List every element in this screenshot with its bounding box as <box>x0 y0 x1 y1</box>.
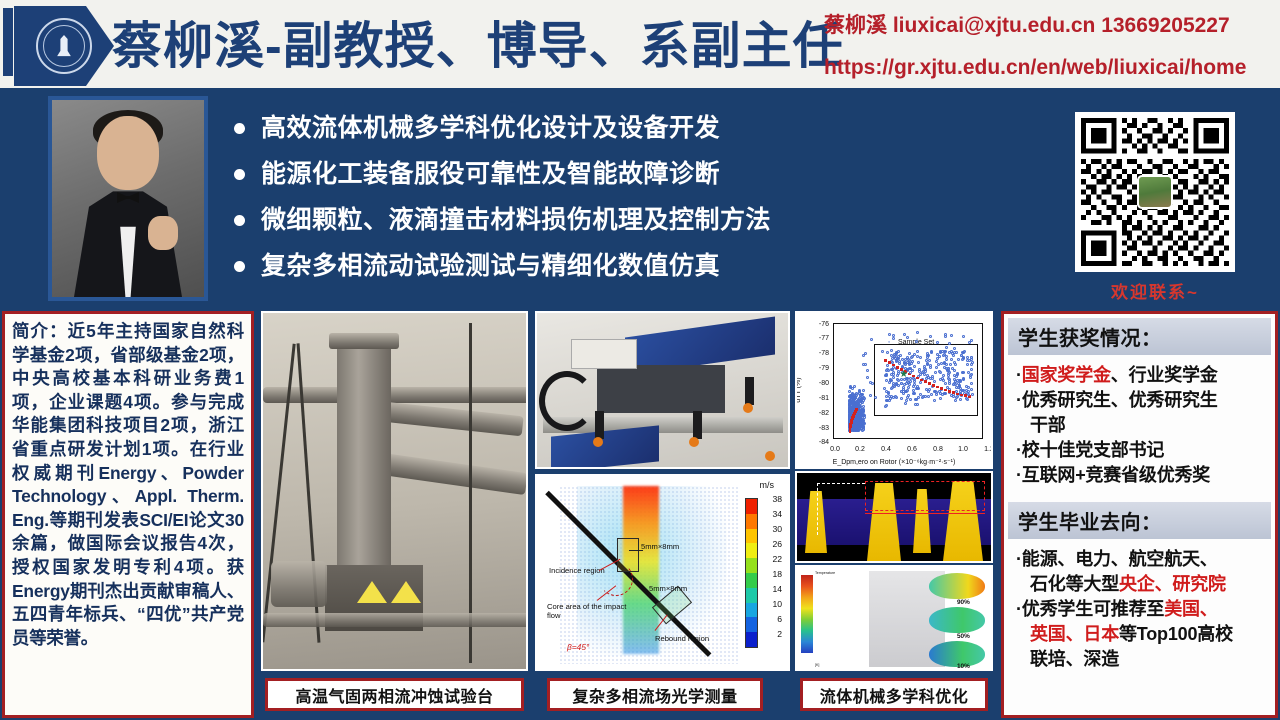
scatter-point <box>948 382 951 385</box>
scatter-point <box>971 393 974 396</box>
pareto-point <box>849 430 852 433</box>
placement-heading: 学生毕业去向： <box>1008 502 1271 539</box>
scatter-point <box>953 347 956 350</box>
logo-accent-bar <box>3 8 13 76</box>
y-tick: -83 <box>803 425 829 432</box>
scatter-point <box>970 382 973 385</box>
list-item: 联培、深造 <box>1016 647 1265 672</box>
piv-canvas: 5mm×8mm 5mm×8mm Incidence region Core ar… <box>537 476 788 669</box>
scatter-point <box>957 358 960 361</box>
piv-size-label-1: 5mm×8mm <box>641 542 679 551</box>
figure-blade-temperature: Temperature [K] 90% 50% 10% <box>795 565 993 671</box>
scatter-point <box>862 389 865 392</box>
lab-post <box>693 411 702 439</box>
list-item: 能源化工装备服役可靠性及智能故障诊断 <box>234 158 834 190</box>
list-item: 复杂多相流动试验测试与精细化数值仿真 <box>234 250 834 282</box>
awards-heading: 学生获奖情况： <box>1008 318 1271 355</box>
homepage-url[interactable]: https://gr.xjtu.edu.cn/en/web/liuxicai/h… <box>824 56 1246 80</box>
blade-section-90 <box>929 573 985 599</box>
scatter-point <box>969 376 972 379</box>
x-tick: 1.0 <box>958 446 968 453</box>
scatter-point <box>910 356 913 359</box>
scatter-point <box>928 388 931 391</box>
awards-list: ·国家奖学金、行业奖学金 ·优秀研究生、优秀研究生 干部 ·校十佳党支部书记 ·… <box>1008 355 1271 492</box>
biography-text: 简介：近5年主持国家自然科学基金2项，省部级基金2项，中央高校基本科研业务费1项… <box>12 320 244 650</box>
scatter-point <box>869 381 872 384</box>
qr-center-avatar <box>1137 175 1173 209</box>
scatter-point <box>935 360 938 363</box>
qr-section: 欢迎联系~ <box>1055 112 1255 303</box>
research-bullet-2: 能源化工装备服役可靠性及智能故障诊断 <box>261 158 720 190</box>
scatter-point <box>970 388 973 391</box>
scatter-point <box>910 362 913 365</box>
scatter-point <box>930 393 933 396</box>
scatter-point <box>961 351 964 354</box>
placement-text: 能源、电力、航空航天、 <box>1022 549 1218 569</box>
list-item: ·互联网+竞赛省级优秀奖 <box>1016 463 1265 488</box>
lab-controller-unit <box>571 339 637 369</box>
x-tick: 0.0 <box>830 446 840 453</box>
research-bullet-1: 高效流体机械多学科优化设计及设备开发 <box>261 112 720 144</box>
qr-code-icon[interactable] <box>1075 112 1235 272</box>
scatter-point <box>892 371 895 374</box>
span-label-10: 10% <box>957 663 970 670</box>
award-text: 互联网+竞赛省级优秀奖 <box>1022 465 1210 485</box>
scatter-point <box>926 352 929 355</box>
scatter-point <box>864 363 867 366</box>
scatter-point <box>944 382 947 385</box>
scatter-point <box>886 399 889 402</box>
colorbar-tick: 2 <box>777 629 782 639</box>
panel-divider <box>1008 492 1271 502</box>
scatter-point <box>913 392 916 395</box>
placement-text: 等Top100高校 <box>1119 624 1233 644</box>
avatar-face <box>97 116 159 190</box>
pareto-point <box>916 377 919 380</box>
figure-blade-cascade <box>795 471 993 563</box>
poster-root: 蔡柳溪-副教授、博导、系副主任 蔡柳溪 liuxicai@xjtu.edu.cn… <box>0 0 1280 720</box>
lab-adjust-knob <box>743 403 753 413</box>
cascade-red-dashed-box <box>865 481 985 511</box>
biography-panel: 简介：近5年主持国家自然科学基金2项，省部级基金2项，中央高校基本科研业务费1项… <box>2 311 254 718</box>
scatter-point <box>904 402 907 405</box>
scatter-point <box>909 398 912 401</box>
lab-post <box>745 377 754 405</box>
scatter-point <box>874 396 877 399</box>
pareto-point <box>948 390 951 393</box>
award-highlight: 国家奖学金 <box>1022 365 1111 385</box>
lab-post <box>595 411 604 439</box>
span-label-90: 90% <box>957 599 970 606</box>
award-text: 优秀研究生、优秀研究生 <box>1022 390 1218 410</box>
scatter-point <box>858 427 861 430</box>
scatter-point <box>954 399 957 402</box>
scatter-point <box>861 429 864 432</box>
colorbar-tick: 18 <box>772 569 782 579</box>
placement-highlight: 英国、日本 <box>1030 624 1119 644</box>
placement-line: 英国、日本等Top100高校 <box>1016 622 1265 647</box>
lab-adjust-knob <box>689 437 699 447</box>
temperature-colorbar-title: Temperature <box>815 571 835 576</box>
scatter-point <box>933 399 936 402</box>
scatter-point <box>966 363 969 366</box>
bullet-dot-icon <box>234 215 245 226</box>
scatter-point <box>895 383 898 386</box>
scatter-point <box>888 333 891 336</box>
scatter-point <box>899 354 902 357</box>
scatter-point <box>931 375 934 378</box>
scatter-point <box>900 397 903 400</box>
scatter-point <box>895 360 898 363</box>
scatter-point <box>916 331 919 334</box>
y-tick: -81 <box>803 395 829 402</box>
scatter-point <box>909 380 912 383</box>
list-item: 石化等大型央企、研究院 <box>1016 572 1265 597</box>
scatter-point <box>866 369 869 372</box>
velocity-colorbar <box>745 498 758 648</box>
piv-annotation-rebound: Rebound region <box>655 634 709 643</box>
pareto-point <box>940 387 943 390</box>
scatter-point <box>935 366 938 369</box>
list-item: 高效流体机械多学科优化设计及设备开发 <box>234 112 834 144</box>
cascade-red-reference-line <box>865 513 985 514</box>
scatter-point <box>890 387 893 390</box>
pareto-point <box>928 382 931 385</box>
pareto-point <box>960 394 963 397</box>
caption-multidisciplinary-optimization: 流体机械多学科优化 <box>800 678 988 711</box>
scatter-canvas: dTT (%) -76 -77 -78 -79 -80 -81 -82 -83 … <box>797 313 991 467</box>
scatter-point <box>849 386 852 389</box>
scatter-point <box>862 408 865 411</box>
figure-optical-lab <box>535 311 790 469</box>
scatter-point <box>854 396 857 399</box>
temperature-colorbar <box>801 575 813 653</box>
lab-cable-icon <box>539 371 595 431</box>
scatter-point <box>891 361 894 364</box>
scatter-point <box>916 350 919 353</box>
list-item: ·优秀学生可推荐至美国、 <box>1016 597 1265 622</box>
rig-heat-exchanger <box>271 561 327 607</box>
qr-caption: 欢迎联系~ <box>1055 278 1255 303</box>
list-item: ·校十佳党支部书记 <box>1016 438 1265 463</box>
scatter-point <box>859 414 862 417</box>
scatter-point <box>862 354 865 357</box>
scatter-point <box>929 335 932 338</box>
list-item: 干部 <box>1016 413 1265 438</box>
y-tick: -80 <box>803 380 829 387</box>
temperature-colorbar-unit: [K] <box>815 663 819 668</box>
x-tick: 0.6 <box>907 446 917 453</box>
figure-pareto-scatter: dTT (%) -76 -77 -78 -79 -80 -81 -82 -83 … <box>795 311 993 469</box>
contact-email-phone: 蔡柳溪 liuxicai@xjtu.edu.cn 13669205227 <box>824 9 1230 39</box>
xjtu-logo-icon <box>14 6 114 86</box>
caption-optical-measurement: 复杂多相流场光学测量 <box>547 678 763 711</box>
scatter-point <box>958 379 961 382</box>
pareto-point <box>855 408 858 411</box>
pareto-point <box>956 393 959 396</box>
colorbar-tick: 38 <box>772 494 782 504</box>
scatter-point <box>856 423 859 426</box>
pareto-point <box>896 366 899 369</box>
list-item: ·优秀研究生、优秀研究生 <box>1016 388 1265 413</box>
figure-piv-velocity-field: 5mm×8mm 5mm×8mm Incidence region Core ar… <box>535 474 790 671</box>
lab-adjust-knob <box>765 451 775 461</box>
scatter-point <box>936 341 939 344</box>
span-label-50: 50% <box>957 633 970 640</box>
placement-text: 优秀学生可推荐至 <box>1022 599 1164 619</box>
pareto-point <box>964 394 967 397</box>
scatter-point <box>898 362 901 365</box>
scatter-point <box>866 376 869 379</box>
bullet-dot-icon <box>234 123 245 134</box>
scatter-point <box>930 351 933 354</box>
list-item: ·国家奖学金、行业奖学金 <box>1016 363 1265 388</box>
scatter-point <box>907 394 910 397</box>
scatter-point <box>915 340 918 343</box>
scatter-point <box>892 337 895 340</box>
y-tick: -82 <box>803 410 829 417</box>
placement-line: 石化等大型央企、研究院 <box>1016 572 1265 597</box>
bullet-dot-icon <box>234 169 245 180</box>
colorbar-tick: 26 <box>772 539 782 549</box>
piv-angle-label: β=45° <box>567 642 589 652</box>
figure-erosion-test-rig <box>261 311 528 671</box>
avatar-hand <box>148 216 178 250</box>
research-bullet-list: 高效流体机械多学科优化设计及设备开发 能源化工装备服役可靠性及智能故障诊断 微细… <box>234 112 834 296</box>
pareto-point <box>932 384 935 387</box>
colorbar-tick: 22 <box>772 554 782 564</box>
scatter-point <box>933 380 936 383</box>
award-text: 校十佳党支部书记 <box>1022 440 1164 460</box>
scatter-point <box>886 364 889 367</box>
scatter-point <box>953 369 956 372</box>
piv-size-label-2: 5mm×8mm <box>649 584 687 593</box>
scatter-x-axis-label: E_Dpm,ero on Rotor (×10⁻⁶kg·m⁻²·s⁻¹) <box>833 458 956 466</box>
scatter-point <box>943 392 946 395</box>
y-tick: -84 <box>803 439 829 446</box>
colorbar-tick: 34 <box>772 509 782 519</box>
scatter-point <box>970 339 973 342</box>
scatter-point <box>870 338 873 341</box>
scatter-point <box>944 335 947 338</box>
y-tick: -78 <box>803 350 829 357</box>
placement-text: 石化等大型 <box>1030 574 1119 594</box>
list-item: ·能源、电力、航空航天、 <box>1016 547 1265 572</box>
list-item: 英国、日本等Top100高校 <box>1016 622 1265 647</box>
research-bullet-4: 复杂多相流动试验测试与精细化数值仿真 <box>261 250 720 282</box>
colorbar-tick: 6 <box>777 614 782 624</box>
lab-adjust-knob <box>593 437 603 447</box>
cascade-white-dashed-box <box>817 483 865 535</box>
scatter-point <box>934 371 937 374</box>
university-seal-icon <box>36 18 92 74</box>
caption-erosion-rig: 高温气固两相流冲蚀试验台 <box>265 678 524 711</box>
poster-header: 蔡柳溪-副教授、博导、系副主任 蔡柳溪 liuxicai@xjtu.edu.cn… <box>0 0 1280 92</box>
scatter-point <box>887 392 890 395</box>
scatter-y-axis-label: dTT (%) <box>795 377 802 402</box>
piv-annotation-core: Core area of the impact flow <box>547 602 633 620</box>
placement-highlight: 美国、 <box>1164 599 1217 619</box>
page-title: 蔡柳溪-副教授、博导、系副主任 <box>112 8 844 84</box>
placement-list: ·能源、电力、航空航天、 石化等大型央企、研究院 ·优秀学生可推荐至美国、 英国… <box>1008 539 1271 676</box>
scatter-point <box>939 397 942 400</box>
scatter-point <box>925 359 928 362</box>
y-tick: -77 <box>803 335 829 342</box>
scatter-point <box>905 390 908 393</box>
colorbar-tick: 10 <box>772 599 782 609</box>
scatter-point <box>903 361 906 364</box>
pareto-point <box>892 364 895 367</box>
y-tick: -76 <box>803 321 829 328</box>
scatter-point <box>950 334 953 337</box>
pareto-point <box>912 375 915 378</box>
scatter-point <box>949 363 952 366</box>
scatter-point <box>959 398 962 401</box>
piv-leader-line <box>629 550 643 551</box>
lab-camera-body <box>597 365 725 413</box>
x-tick: 1.2 <box>984 446 993 453</box>
pareto-point <box>924 380 927 383</box>
scatter-point <box>902 386 905 389</box>
scatter-point <box>947 372 950 375</box>
blade-section-50 <box>929 607 985 633</box>
avatar <box>48 96 208 301</box>
colorbar-tick: 30 <box>772 524 782 534</box>
scatter-point <box>945 358 948 361</box>
placement-highlight: 央企、研究院 <box>1119 574 1226 594</box>
y-tick: -79 <box>803 365 829 372</box>
x-tick: 0.2 <box>855 446 865 453</box>
scatter-point <box>935 393 938 396</box>
scatter-point <box>885 379 888 382</box>
x-tick: 0.4 <box>881 446 891 453</box>
list-item: 微细颗粒、液滴撞击材料损伤机理及控制方法 <box>234 204 834 236</box>
scatter-point <box>962 335 965 338</box>
scatter-point <box>886 351 889 354</box>
award-text-continued: 干部 <box>1016 413 1265 438</box>
scatter-point <box>917 361 920 364</box>
scatter-point <box>970 368 973 371</box>
scatter-point <box>916 385 919 388</box>
research-bullet-3: 微细颗粒、液滴撞击材料损伤机理及控制方法 <box>261 204 771 236</box>
rig-support-column <box>469 323 472 663</box>
original-design-marker: ★ <box>899 370 908 380</box>
scatter-plot-area: ◦ Sample Set ■ Pareto ★ Original Design … <box>833 323 983 439</box>
scatter-point <box>917 396 920 399</box>
award-text: 、行业奖学金 <box>1111 365 1218 385</box>
pareto-point <box>944 389 947 392</box>
placement-text: 联培、深造 <box>1016 647 1265 672</box>
scatter-point <box>869 394 872 397</box>
pareto-point <box>952 391 955 394</box>
scatter-point <box>962 371 965 374</box>
rig-vessel <box>337 347 391 587</box>
colorbar-tick: 14 <box>772 584 782 594</box>
scatter-point <box>967 386 970 389</box>
piv-annotation-incidence: Incidence region <box>549 566 605 575</box>
rig-pipe-bottom <box>263 613 528 627</box>
bullet-dot-icon <box>234 261 245 272</box>
pareto-point <box>884 359 887 362</box>
pareto-point <box>936 386 939 389</box>
student-outcomes-panel: 学生获奖情况： ·国家奖学金、行业奖学金 ·优秀研究生、优秀研究生 干部 ·校十… <box>1001 311 1278 718</box>
rig-flange-top <box>329 333 399 349</box>
scatter-point <box>970 363 973 366</box>
scatter-point <box>885 395 888 398</box>
scatter-point <box>955 351 958 354</box>
scatter-point <box>913 365 916 368</box>
scatter-point <box>906 336 909 339</box>
colorbar-title: m/s <box>760 480 775 490</box>
scatter-point <box>890 349 893 352</box>
scatter-point <box>907 358 910 361</box>
scatter-point <box>881 350 884 353</box>
x-tick: 0.8 <box>933 446 943 453</box>
